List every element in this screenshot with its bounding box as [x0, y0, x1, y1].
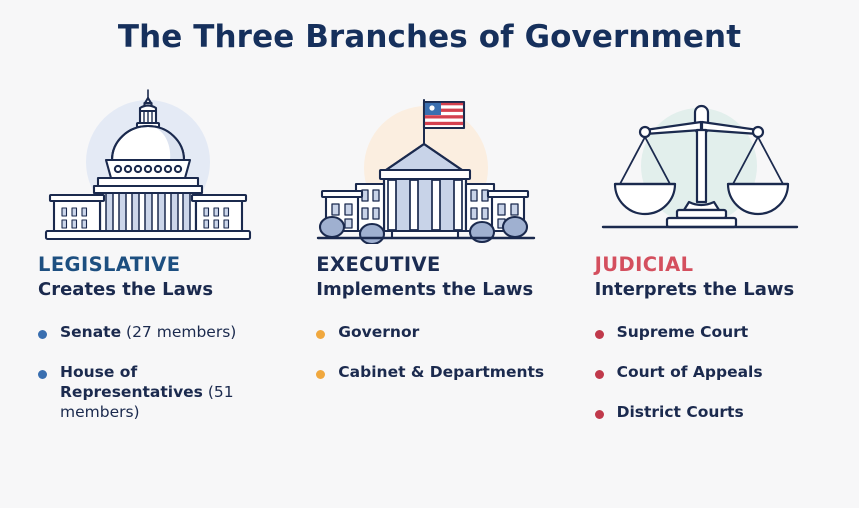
list-item: District Courts — [595, 403, 841, 423]
list-item-label: Cabinet & Departments — [338, 363, 544, 381]
list-item-text: Court of Appeals — [617, 363, 763, 383]
list-item-text: Cabinet & Departments — [338, 363, 544, 383]
list-item-text: House of Representatives (51 members) — [60, 363, 268, 422]
list-item: Cabinet & Departments — [316, 363, 554, 383]
list-item-label: Governor — [338, 323, 419, 341]
branch-name-judicial: JUDICIAL — [595, 254, 694, 275]
title-container: The Three Branches of Government — [0, 20, 859, 56]
bullet-dot-icon — [38, 330, 47, 339]
bullet-dot-icon — [595, 330, 604, 339]
list-item: House of Representatives (51 members) — [38, 363, 268, 422]
list-item-text: Senate (27 members) — [60, 323, 236, 343]
bullet-dot-icon — [316, 330, 325, 339]
white-house-icon — [310, 84, 542, 244]
bullet-dot-icon — [595, 370, 604, 379]
page-title: The Three Branches of Government — [0, 20, 859, 56]
list-item-label: District Courts — [617, 403, 744, 421]
branch-subtitle-executive: Implements the Laws — [316, 280, 533, 301]
bullet-dot-icon — [595, 410, 604, 419]
list-item: Governor — [316, 323, 554, 343]
list-item-label: Supreme Court — [617, 323, 749, 341]
list-item: Court of Appeals — [595, 363, 841, 383]
branch-column-executive: EXECUTIVE Implements the Laws Governor C… — [286, 84, 572, 403]
branch-name-legislative: LEGISLATIVE — [38, 254, 180, 275]
list-item-text: Governor — [338, 323, 419, 343]
list-item-text: District Courts — [617, 403, 744, 423]
branch-column-legislative: LEGISLATIVE Creates the Laws Senate (27 … — [0, 84, 286, 442]
bullet-dot-icon — [316, 370, 325, 379]
capitol-building-icon — [32, 84, 264, 244]
list-item: Supreme Court — [595, 323, 841, 343]
branch-column-judicial: JUDICIAL Interprets the Laws Supreme Cou… — [573, 84, 859, 443]
list-item-text: Supreme Court — [617, 323, 749, 343]
list-item: Senate (27 members) — [38, 323, 268, 343]
scales-of-justice-icon — [589, 84, 821, 244]
branch-name-executive: EXECUTIVE — [316, 254, 440, 275]
branch-items-judicial: Supreme Court Court of Appeals District … — [595, 323, 841, 442]
infographic-canvas: The Three Branches of Government — [0, 0, 859, 508]
branch-subtitle-legislative: Creates the Laws — [38, 280, 213, 301]
list-item-qualifier: (27 members) — [121, 323, 236, 341]
bullet-dot-icon — [38, 370, 47, 379]
branch-subtitle-judicial: Interprets the Laws — [595, 280, 795, 301]
branch-items-executive: Governor Cabinet & Departments — [316, 323, 554, 403]
list-item-label: Court of Appeals — [617, 363, 763, 381]
list-item-label: Senate — [60, 323, 121, 341]
branch-items-legislative: Senate (27 members) House of Representat… — [38, 323, 268, 442]
list-item-label: House of Representatives — [60, 363, 203, 401]
branch-columns: LEGISLATIVE Creates the Laws Senate (27 … — [0, 84, 859, 494]
